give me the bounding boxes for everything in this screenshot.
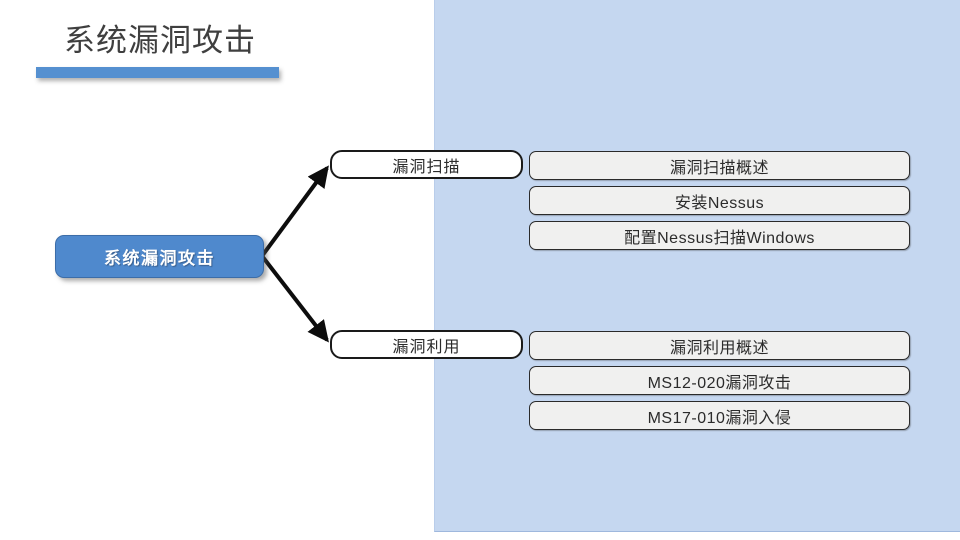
page-title: 系统漏洞攻击 bbox=[64, 21, 256, 61]
leaf-node-label: 漏洞利用概述 bbox=[670, 334, 769, 358]
connector-to-branch-1 bbox=[262, 256, 327, 340]
leaf-node-label: MS12-020漏洞攻击 bbox=[648, 369, 792, 393]
decorative-side-panel bbox=[434, 0, 960, 532]
leaf-node[interactable]: MS12-020漏洞攻击 bbox=[529, 366, 910, 395]
leaf-node-label: 漏洞扫描概述 bbox=[670, 154, 769, 178]
leaf-node-label: 安装Nessus bbox=[675, 189, 764, 213]
leaf-node[interactable]: 配置Nessus扫描Windows bbox=[529, 221, 910, 250]
leaf-node[interactable]: MS17-010漏洞入侵 bbox=[529, 401, 910, 430]
leaf-node[interactable]: 漏洞扫描概述 bbox=[529, 151, 910, 180]
branch-node-vulnerability-scan[interactable]: 漏洞扫描 bbox=[330, 150, 523, 179]
branch-node-label: 漏洞利用 bbox=[392, 333, 460, 357]
title-underline-bar bbox=[36, 67, 279, 78]
leaf-node[interactable]: 漏洞利用概述 bbox=[529, 331, 910, 360]
branch-node-vulnerability-exploit[interactable]: 漏洞利用 bbox=[330, 330, 523, 359]
leaf-node-label: MS17-010漏洞入侵 bbox=[648, 404, 792, 428]
root-node-label: 系统漏洞攻击 bbox=[104, 244, 215, 269]
leaf-node-label: 配置Nessus扫描Windows bbox=[624, 224, 815, 248]
leaf-node[interactable]: 安装Nessus bbox=[529, 186, 910, 215]
slide-canvas: 系统漏洞攻击 系统漏洞攻击 漏洞扫描 漏洞利用 漏洞扫描概述 安装Nessus … bbox=[0, 0, 960, 540]
root-node[interactable]: 系统漏洞攻击 bbox=[55, 235, 264, 278]
branch-node-label: 漏洞扫描 bbox=[392, 153, 460, 177]
connector-to-branch-0 bbox=[262, 168, 327, 256]
